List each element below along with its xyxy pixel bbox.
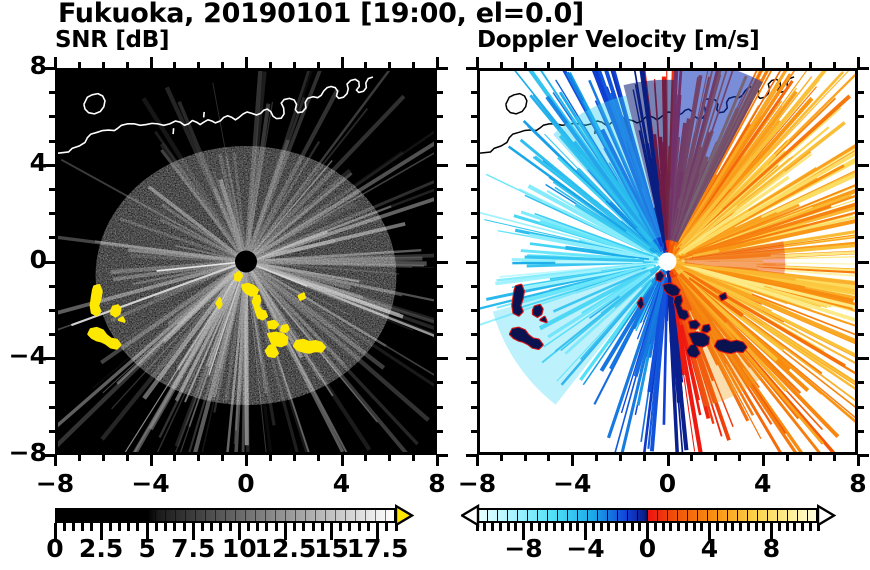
xtick-bottom-7 <box>833 455 836 461</box>
dop-cbar-tick-8.5 <box>778 523 781 531</box>
dop-cbar-cell-sep-12 <box>597 509 598 522</box>
xtick-bottom-2 <box>293 455 296 461</box>
ytick-right-2 <box>437 212 443 215</box>
ytick-right--7 <box>437 430 443 433</box>
snr-cbar-cell-sep-6 <box>115 509 116 522</box>
dop-cbar-tick-7.5 <box>762 523 765 531</box>
ytick-right-7 <box>858 91 864 94</box>
xtick-top--6 <box>524 62 527 68</box>
xtick-top-6 <box>809 62 812 68</box>
dop-cbar-cell-sep-25 <box>727 509 728 522</box>
xtick-bottom--1 <box>643 455 646 461</box>
snr-cbar-tick-3.5 <box>118 523 121 531</box>
ytick-left-3 <box>49 188 55 191</box>
snr-cbar-cell-sep-18 <box>235 509 236 522</box>
snr-cbar-tick-16.5 <box>358 523 361 531</box>
snr-cbar-cell-sep-2 <box>75 509 76 522</box>
xtick-top-4 <box>762 57 765 68</box>
ytick-left--1 <box>49 285 55 288</box>
dop-cbar-tick--5.5 <box>561 523 564 531</box>
ytick-left-5 <box>471 140 477 143</box>
dop-cbar-cell-sep-5 <box>527 509 528 522</box>
snr-cbar-cell-sep-16 <box>215 509 216 522</box>
snr-cbar-cell-sep-12 <box>175 509 176 522</box>
xtick-top-1 <box>690 62 693 68</box>
xtick-bottom-8 <box>436 455 439 466</box>
xtick-bottom--6 <box>524 455 527 461</box>
dop-cbar-cell-sep-18 <box>657 509 658 522</box>
dop-cbar-cell-sep-2 <box>497 509 498 522</box>
dop-cbar-tick--1.5 <box>623 523 626 531</box>
xtick-bottom--5 <box>126 455 129 461</box>
dop-cbar-tick--3.5 <box>592 523 595 531</box>
xtick-top-3 <box>317 62 320 68</box>
xtick-top--2 <box>619 62 622 68</box>
ytick-left--8 <box>466 454 477 457</box>
snr-xaxis-label-1: −4 <box>119 469 183 498</box>
snr-cbar-tick-5.5 <box>155 523 158 531</box>
ytick-right--1 <box>858 285 864 288</box>
ytick-left--2 <box>471 309 477 312</box>
dop-cbar-cell-sep-30 <box>777 509 778 522</box>
xtick-bottom-1 <box>690 455 693 461</box>
ytick-left--2 <box>49 309 55 312</box>
ytick-right--5 <box>858 381 864 384</box>
dop-cbar-tick-0.5 <box>654 523 657 531</box>
snr-panel-title: SNR [dB] <box>55 27 169 53</box>
ytick-right--2 <box>858 309 864 312</box>
xtick-top--5 <box>547 62 550 68</box>
doppler-plot-panel <box>477 68 858 455</box>
xtick-top-4 <box>341 57 344 68</box>
dop-cbar-cell-sep-6 <box>537 509 538 522</box>
snr-cbar-tick-9.5 <box>229 523 232 531</box>
xtick-top--1 <box>643 62 646 68</box>
ytick-right-2 <box>858 212 864 215</box>
dop-cbar-cell-sep-10 <box>577 509 578 522</box>
dop-cbar-cell-sep-32 <box>797 509 798 522</box>
snr-cbar-cell-sep-33 <box>385 509 386 522</box>
snr-cbar-tick-10.5 <box>247 523 250 531</box>
xtick-bottom--3 <box>173 455 176 461</box>
xtick-bottom--7 <box>500 455 503 461</box>
dop-cbar-tick-9.0 <box>786 523 789 531</box>
snr-cbar-tick-14.0 <box>312 523 315 531</box>
ytick-right-8 <box>437 67 448 70</box>
dop-cbar-tick-2.0 <box>677 523 680 531</box>
snr-cbar-tick-2.0 <box>90 523 93 531</box>
snr-cbar-ticklabel-7: 17.5 <box>338 534 418 563</box>
snr-cbar-cell-sep-17 <box>225 509 226 522</box>
ytick-right-4 <box>858 164 869 167</box>
snr-cbar-tick-12.0 <box>275 523 278 531</box>
xtick-bottom-4 <box>341 455 344 466</box>
snr-colorbar-arrow-outline <box>395 504 415 528</box>
dop-cbar-tick-5.5 <box>731 523 734 531</box>
xtick-bottom-4 <box>762 455 765 466</box>
ytick-right--6 <box>437 406 443 409</box>
dop-cbar-cell-sep-28 <box>757 509 758 522</box>
dop-cbar-tick-10.0 <box>801 523 804 531</box>
dop-cbar-tick-1.5 <box>669 523 672 531</box>
xtick-top-0 <box>667 57 670 68</box>
dop-cbar-cell-sep-7 <box>547 509 548 522</box>
dop-cbar-cell-sep-11 <box>587 509 588 522</box>
xtick-bottom-5 <box>786 455 789 461</box>
dop-cbar-ticklabel-4: 8 <box>732 534 812 563</box>
dop-cbar-tick--8.5 <box>514 523 517 531</box>
ytick-right-5 <box>437 140 443 143</box>
snr-cbar-tick-11.5 <box>265 523 268 531</box>
dop-xaxis-label-4: 8 <box>826 469 870 498</box>
dop-cbar-cell-sep-8 <box>557 509 558 522</box>
xtick-top-5 <box>786 62 789 68</box>
snr-cbar-tick-13.0 <box>293 523 296 531</box>
dop-cbar-cell-sep-33 <box>807 509 808 522</box>
ytick-left--3 <box>49 333 55 336</box>
xtick-bottom--3 <box>595 455 598 461</box>
xtick-top--5 <box>126 62 129 68</box>
snr-cbar-tick-18.0 <box>385 523 388 531</box>
ytick-right--4 <box>437 357 448 360</box>
xtick-bottom--4 <box>150 455 153 466</box>
xtick-bottom-0 <box>667 455 670 466</box>
xtick-bottom-8 <box>857 455 860 466</box>
dop-cbar-tick--5.0 <box>569 523 572 531</box>
snr-cbar-cell-sep-22 <box>275 509 276 522</box>
ytick-left-0 <box>466 261 477 264</box>
snr-cbar-cell-sep-32 <box>375 509 376 522</box>
xtick-top-5 <box>364 62 367 68</box>
xtick-bottom--2 <box>197 455 200 461</box>
ytick-right-0 <box>858 261 869 264</box>
xtick-bottom-3 <box>317 455 320 461</box>
dop-cbar-tick-1.0 <box>662 523 665 531</box>
page-title: Fukuoka, 20190101 [19:00, el=0.0] <box>58 0 584 29</box>
xtick-bottom--2 <box>619 455 622 461</box>
ytick-right--7 <box>858 430 864 433</box>
dop-cbar-cell-sep-15 <box>627 509 628 522</box>
xtick-bottom--4 <box>571 455 574 466</box>
xtick-bottom--6 <box>102 455 105 461</box>
xtick-bottom-2 <box>714 455 717 461</box>
ytick-right--2 <box>437 309 443 312</box>
ytick-left-2 <box>49 212 55 215</box>
xtick-top-1 <box>269 62 272 68</box>
dop-cbar-cell-sep-22 <box>697 509 698 522</box>
dop-cbar-cell-sep-24 <box>717 509 718 522</box>
ytick-right--4 <box>858 357 869 360</box>
xtick-bottom-1 <box>269 455 272 461</box>
snr-cbar-cell-sep-25 <box>305 509 306 522</box>
ytick-left--6 <box>471 406 477 409</box>
snr-cbar-cell-sep-31 <box>365 509 366 522</box>
figure-root: Fukuoka, 20190101 [19:00, el=0.0] SNR [d… <box>0 0 870 570</box>
snr-cbar-cell-sep-11 <box>165 509 166 522</box>
dop-xaxis-label-2: 0 <box>636 469 700 498</box>
dop-cbar-tick-7.0 <box>755 523 758 531</box>
dop-cbar-tick-5.0 <box>724 523 727 531</box>
snr-yaxis-label-4: −8 <box>0 438 47 467</box>
ytick-left--5 <box>471 381 477 384</box>
dop-cbar-cell-sep-31 <box>787 509 788 522</box>
snr-cbar-tick-6.0 <box>164 523 167 531</box>
dop-cbar-tick--6.5 <box>545 523 548 531</box>
dop-cbar-cell-sep-13 <box>607 509 608 522</box>
ytick-left--7 <box>471 430 477 433</box>
xtick-top-6 <box>388 62 391 68</box>
ytick-left-5 <box>49 140 55 143</box>
snr-plot-panel <box>55 68 437 455</box>
ytick-left--5 <box>49 381 55 384</box>
snr-cbar-cell-sep-23 <box>285 509 286 522</box>
ytick-right--6 <box>858 406 864 409</box>
ytick-left-8 <box>466 67 477 70</box>
snr-cbar-tick-16.0 <box>348 523 351 531</box>
dop-cbar-cell-sep-14 <box>617 509 618 522</box>
ytick-right--3 <box>858 333 864 336</box>
dop-cbar-tick-6.5 <box>747 523 750 531</box>
snr-cbar-cell-sep-1 <box>65 509 66 522</box>
ytick-left--6 <box>49 406 55 409</box>
dop-cbar-tick--10.0 <box>491 523 494 531</box>
ytick-left-6 <box>471 115 477 118</box>
snr-cbar-cell-sep-26 <box>315 509 316 522</box>
dop-cbar-tick-3.0 <box>693 523 696 531</box>
snr-cbar-cell-sep-8 <box>135 509 136 522</box>
dop-cbar-tick-9.5 <box>793 523 796 531</box>
snr-xaxis-label-2: 0 <box>214 469 278 498</box>
ytick-left--4 <box>466 357 477 360</box>
dop-cbar-tick--9.5 <box>499 523 502 531</box>
dop-cbar-tick--0.5 <box>638 523 641 531</box>
ytick-left-1 <box>49 236 55 239</box>
snr-cbar-tick-7.0 <box>183 523 186 531</box>
snr-cbar-cell-sep-29 <box>345 509 346 522</box>
xtick-top--2 <box>197 62 200 68</box>
snr-cbar-cell-sep-13 <box>185 509 186 522</box>
dop-xaxis-label-0: −8 <box>445 469 509 498</box>
ytick-right-7 <box>437 91 443 94</box>
xtick-bottom-0 <box>245 455 248 466</box>
dop-cbar-tick--10.5 <box>483 523 486 531</box>
dop-cbar-cell-sep-9 <box>567 509 568 522</box>
xtick-top--7 <box>500 62 503 68</box>
xtick-top--4 <box>150 57 153 68</box>
snr-cbar-tick-13.5 <box>302 523 305 531</box>
snr-cbar-cell-sep-21 <box>265 509 266 522</box>
ytick-left-1 <box>471 236 477 239</box>
ytick-right--1 <box>437 285 443 288</box>
doppler-radar-image <box>480 71 855 452</box>
ytick-left--3 <box>471 333 477 336</box>
xtick-bottom--5 <box>547 455 550 461</box>
xtick-top-2 <box>714 62 717 68</box>
dop-cbar-cell-sep-16 <box>637 509 638 522</box>
dop-cbar-cell-sep-4 <box>517 509 518 522</box>
dop-cbar-tick--9.0 <box>507 523 510 531</box>
snr-cbar-cell-sep-5 <box>105 509 106 522</box>
xtick-bottom--1 <box>221 455 224 461</box>
dop-cbar-tick--3.0 <box>600 523 603 531</box>
ytick-left--7 <box>49 430 55 433</box>
xtick-top-2 <box>293 62 296 68</box>
snr-cbar-tick-1.5 <box>81 523 84 531</box>
dop-cbar-cell-sep-3 <box>507 509 508 522</box>
snr-yaxis-label-3: −4 <box>0 341 47 370</box>
ytick-left-4 <box>466 164 477 167</box>
ytick-right-6 <box>858 115 864 118</box>
snr-cbar-tick-14.5 <box>321 523 324 531</box>
snr-cbar-cell-sep-24 <box>295 509 296 522</box>
xtick-top-3 <box>738 62 741 68</box>
dop-cbar-cell-sep-17 <box>647 509 648 522</box>
ytick-left-2 <box>471 212 477 215</box>
snr-cbar-cell-sep-20 <box>255 509 256 522</box>
snr-yaxis-label-1: 4 <box>0 148 47 177</box>
xtick-bottom--7 <box>78 455 81 461</box>
ytick-right--3 <box>437 333 443 336</box>
snr-cbar-tick-1.0 <box>72 523 75 531</box>
ytick-right-3 <box>437 188 443 191</box>
dop-cbar-tick--4.5 <box>576 523 579 531</box>
dop-cbar-cell-sep-1 <box>487 509 488 522</box>
ytick-right-8 <box>858 67 869 70</box>
snr-cbar-cell-sep-30 <box>355 509 356 522</box>
ytick-left-7 <box>471 91 477 94</box>
dop-cbar-cell-sep-20 <box>677 509 678 522</box>
snr-xaxis-label-0: −8 <box>23 469 87 498</box>
ytick-right-6 <box>437 115 443 118</box>
dop-cbar-tick-6.0 <box>739 523 742 531</box>
snr-cbar-cell-sep-27 <box>325 509 326 522</box>
dop-cbar-cell-sep-21 <box>687 509 688 522</box>
dop-xaxis-label-3: 4 <box>731 469 795 498</box>
xtick-bottom-6 <box>388 455 391 461</box>
xtick-top--7 <box>78 62 81 68</box>
ytick-right-4 <box>437 164 448 167</box>
ytick-right-5 <box>858 140 864 143</box>
xtick-bottom-5 <box>364 455 367 461</box>
xtick-bottom-7 <box>412 455 415 461</box>
snr-cbar-cell-sep-7 <box>125 509 126 522</box>
snr-cbar-cell-sep-19 <box>245 509 246 522</box>
xtick-top--4 <box>571 57 574 68</box>
xtick-top--6 <box>102 62 105 68</box>
snr-cbar-tick-9.0 <box>219 523 222 531</box>
ytick-right-1 <box>858 236 864 239</box>
xtick-bottom-6 <box>809 455 812 461</box>
snr-cbar-tick-17.0 <box>367 523 370 531</box>
dop-cbar-tick--2.5 <box>607 523 610 531</box>
dop-cbar-tick--7.5 <box>530 523 533 531</box>
snr-xaxis-label-3: 4 <box>310 469 374 498</box>
snr-radar-image <box>58 71 434 452</box>
ytick-left--1 <box>471 285 477 288</box>
dop-xaxis-label-1: −4 <box>540 469 604 498</box>
dop-cbar-cell-sep-27 <box>747 509 748 522</box>
dop-cbar-tick-2.5 <box>685 523 688 531</box>
dop-cbar-tick-3.5 <box>700 523 703 531</box>
snr-cbar-cell-sep-28 <box>335 509 336 522</box>
snr-cbar-cell-sep-15 <box>205 509 206 522</box>
snr-cbar-tick-11.0 <box>256 523 259 531</box>
snr-cbar-tick-8.0 <box>201 523 204 531</box>
dop-cbar-tick--1.0 <box>631 523 634 531</box>
ytick-right-1 <box>437 236 443 239</box>
snr-cbar-tick-3.0 <box>109 523 112 531</box>
snr-cbar-cell-sep-4 <box>95 509 96 522</box>
xtick-top--3 <box>173 62 176 68</box>
ytick-right-0 <box>437 261 448 264</box>
snr-cbar-tick-8.5 <box>210 523 213 531</box>
snr-cbar-tick-15.5 <box>339 523 342 531</box>
snr-cbar-tick-6.5 <box>173 523 176 531</box>
ytick-right-3 <box>858 188 864 191</box>
doppler-colorbar-extend-arrow-left <box>461 504 481 528</box>
xtick-top--1 <box>221 62 224 68</box>
snr-cbar-cell-sep-9 <box>145 509 146 522</box>
snr-cbar-tick-4.5 <box>136 523 139 531</box>
dop-cbar-cell-sep-29 <box>767 509 768 522</box>
snr-cbar-tick-4.0 <box>127 523 130 531</box>
snr-yaxis-label-2: 0 <box>0 245 47 274</box>
dop-cbar-tick-10.5 <box>809 523 812 531</box>
xtick-bottom-3 <box>738 455 741 461</box>
dop-cbar-cell-sep-19 <box>667 509 668 522</box>
ytick-left-7 <box>49 91 55 94</box>
snr-cbar-cell-sep-10 <box>155 509 156 522</box>
xtick-top-7 <box>412 62 415 68</box>
dop-cbar-cell-sep-26 <box>737 509 738 522</box>
xtick-top--3 <box>595 62 598 68</box>
ytick-left-3 <box>471 188 477 191</box>
doppler-colorbar-extend-arrow-right <box>817 504 837 528</box>
doppler-panel-title: Doppler Velocity [m/s] <box>477 27 759 53</box>
ytick-right--5 <box>437 381 443 384</box>
snr-cbar-cell-sep-3 <box>85 509 86 522</box>
snr-cbar-tick-0.5 <box>63 523 66 531</box>
snr-cbar-cell-sep-14 <box>195 509 196 522</box>
dop-cbar-tick-4.5 <box>716 523 719 531</box>
xtick-top-7 <box>833 62 836 68</box>
dop-cbar-tick--7.0 <box>538 523 541 531</box>
dop-cbar-cell-sep-23 <box>707 509 708 522</box>
dop-cbar-tick--6.0 <box>553 523 556 531</box>
snr-yaxis-label-0: 8 <box>0 51 47 80</box>
dop-cbar-tick--2.0 <box>615 523 618 531</box>
ytick-left-6 <box>49 115 55 118</box>
xtick-top-0 <box>245 57 248 68</box>
